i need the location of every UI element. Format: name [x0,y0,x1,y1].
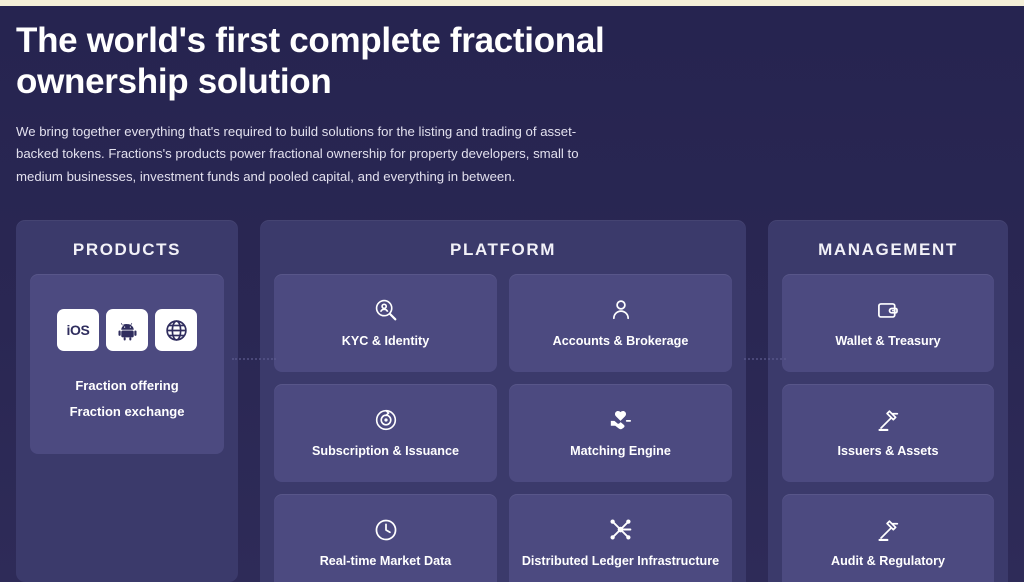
gavel-icon [875,407,901,433]
tile-label: Issuers & Assets [837,443,938,459]
clock-icon [373,517,399,543]
tile-label: Accounts & Brokerage [553,333,689,349]
product-item-fraction-exchange[interactable]: Fraction exchange [70,404,185,419]
hero-description: We bring together everything that's requ… [16,121,616,189]
connector-platform-management [744,358,786,360]
tile-label: Subscription & Issuance [312,443,459,459]
tile-label: Audit & Regulatory [831,553,945,569]
product-item-fraction-offering[interactable]: Fraction offering [75,378,178,393]
globe-icon[interactable] [155,309,197,351]
tile-kyc-identity[interactable]: KYC & Identity [274,274,497,372]
page-title: The world's first complete fractional ow… [16,20,636,103]
tile-audit-regulatory[interactable]: Audit & Regulatory [782,494,994,582]
network-nodes-icon [607,516,634,543]
marketing-page: The world's first complete fractional ow… [0,6,1024,582]
architecture-columns: PRODUCTS iOS [16,220,1008,582]
tile-label: KYC & Identity [342,333,429,349]
tile-subscription-issuance[interactable]: Subscription & Issuance [274,384,497,482]
top-edge-strip [0,0,1024,6]
tile-label: Real-time Market Data [320,553,452,569]
ios-icon[interactable]: iOS [57,309,99,351]
platform-tile-grid: KYC & Identity Accounts & Brokerage [274,274,732,582]
person-account-icon [608,297,634,323]
tile-accounts-brokerage[interactable]: Accounts & Brokerage [509,274,732,372]
column-title-platform: PLATFORM [274,234,732,274]
wallet-icon [875,297,901,323]
column-products: PRODUCTS iOS [16,220,238,582]
subscription-cycle-icon [373,407,399,433]
platform-icon-row: iOS [57,309,197,351]
column-title-products: PRODUCTS [30,234,224,274]
tile-real-time-market-data[interactable]: Real-time Market Data [274,494,497,582]
android-icon[interactable] [106,309,148,351]
tile-distributed-ledger-infrastructure[interactable]: Distributed Ledger Infrastructure [509,494,732,582]
connector-products-platform [232,358,276,360]
ios-icon-label: iOS [67,322,90,338]
gavel-icon [875,517,901,543]
column-title-management: MANAGEMENT [782,234,994,274]
column-platform: PLATFORM KYC & Identity [260,220,746,582]
tile-matching-engine[interactable]: Matching Engine [509,384,732,482]
kyc-magnifier-person-icon [373,297,399,323]
tile-issuers-assets[interactable]: Issuers & Assets [782,384,994,482]
products-card[interactable]: iOS [30,274,224,454]
handshake-icon [607,406,634,433]
tile-label: Wallet & Treasury [835,333,940,349]
tile-label: Matching Engine [570,443,671,459]
tile-wallet-treasury[interactable]: Wallet & Treasury [782,274,994,372]
column-management: MANAGEMENT Wallet & Treasury [768,220,1008,582]
management-tile-list: Wallet & Treasury Issuers & Assets [782,274,994,582]
tile-label: Distributed Ledger Infrastructure [522,553,719,569]
